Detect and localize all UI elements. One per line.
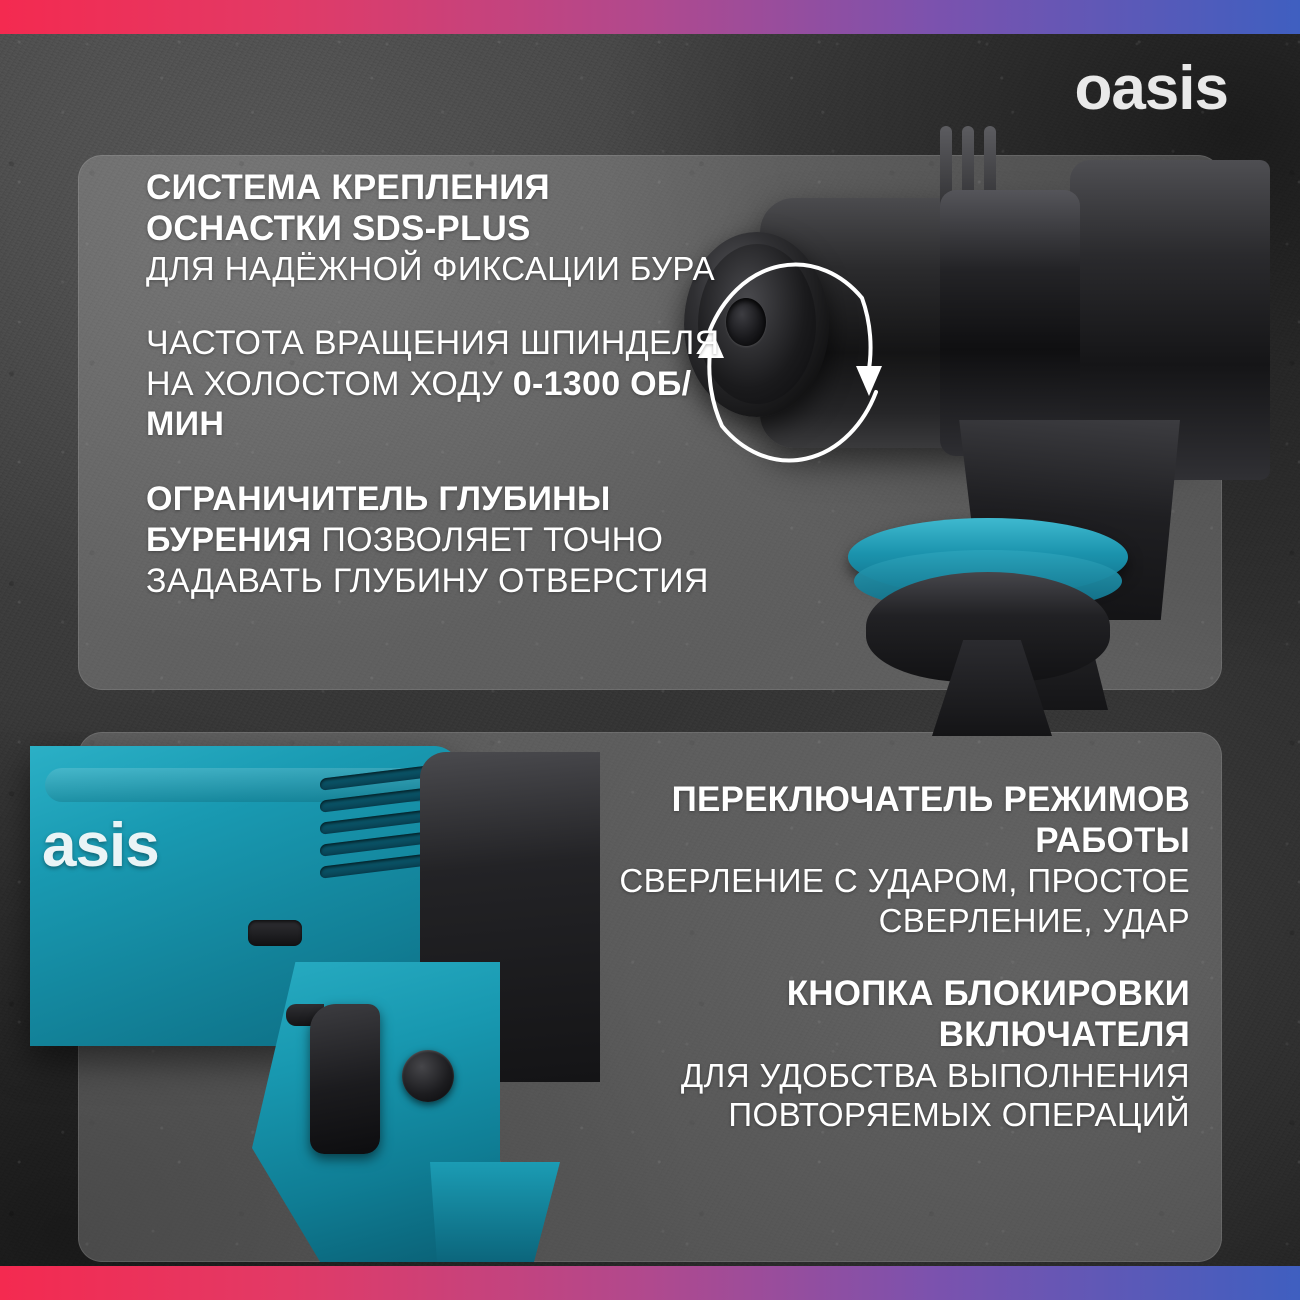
chuck-collar [940,190,1080,456]
feature-block-mode-switch: ПЕРЕКЛЮЧАТЕЛЬ РЕЖИМОВ РАБОТЫ СВЕРЛЕНИЕ С… [590,780,1190,940]
feature-block-lock-button: КНОПКА БЛОКИРОВКИ ВКЛЮЧАТЕЛЯ ДЛЯ УДОБСТВ… [590,974,1190,1134]
vent-slot [320,809,430,835]
product-photo-drill-handle: asis [0,732,610,1262]
feature-body-lock-button: ДЛЯ УДОБСТВА ВЫПОЛНЕНИЯ ПОВТОРЯЕМЫХ ОПЕР… [590,1056,1190,1135]
feature-text-column-bottom: ПЕРЕКЛЮЧАТЕЛЬ РЕЖИМОВ РАБОТЫ СВЕРЛЕНИЕ С… [590,780,1190,1135]
feature-headline-lock-button: КНОПКА БЛОКИРОВКИ ВКЛЮЧАТЕЛЯ [590,974,1190,1055]
vent-slot [320,853,430,879]
sds-chuck-bore [726,298,766,346]
feature-depth-stop-line: ОГРАНИЧИТЕЛЬ ГЛУБИНЫ БУРЕНИЯ ПОЗВОЛЯЕТ Т… [146,479,726,601]
body-brand-logo: asis [42,810,159,881]
motor-vents [320,755,430,889]
mode-selector-switch [248,920,302,946]
feature-body-mode-switch: СВЕРЛЕНИЕ С УДАРОМ, ПРОСТОЕ СВЕРЛЕНИЕ, У… [590,861,1190,940]
bottom-gradient-bar [0,1266,1300,1300]
feature-headline-mode-switch: ПЕРЕКЛЮЧАТЕЛЬ РЕЖИМОВ РАБОТЫ [590,780,1190,861]
feature-text-column-top: СИСТЕМА КРЕПЛЕНИЯ ОСНАСТКИ SDS-PLUS ДЛЯ … [146,168,726,602]
feature-headline-sds: СИСТЕМА КРЕПЛЕНИЯ ОСНАСТКИ SDS-PLUS [146,168,726,249]
vent-slot [320,831,430,857]
vent-slot [320,787,430,813]
brand-logo: oasis [1074,58,1228,120]
drill-handle-base [430,1162,560,1262]
product-photo-sds-chuck [640,120,1260,720]
lock-on-button [402,1050,454,1102]
feature-body-sds: ДЛЯ НАДЁЖНОЙ ФИКСАЦИИ БУРА [146,249,726,289]
feature-block-depth-stop: ОГРАНИЧИТЕЛЬ ГЛУБИНЫ БУРЕНИЯ ПОЗВОЛЯЕТ Т… [146,479,726,601]
feature-block-rpm: ЧАСТОТА ВРАЩЕНИЯ ШПИНДЕЛЯ НА ХОЛОСТОМ ХО… [146,323,726,445]
feature-rpm-line: ЧАСТОТА ВРАЩЕНИЯ ШПИНДЕЛЯ НА ХОЛОСТОМ ХО… [146,323,726,445]
vent-slot [320,765,430,791]
trigger-switch [310,1004,380,1154]
infographic-stage: oasis СИСТЕМА КРЕПЛЕНИЯ ОСНАСТКИ SDS-PLU… [0,0,1300,1300]
top-gradient-bar [0,0,1300,34]
feature-block-sds: СИСТЕМА КРЕПЛЕНИЯ ОСНАСТКИ SDS-PLUS ДЛЯ … [146,168,726,289]
